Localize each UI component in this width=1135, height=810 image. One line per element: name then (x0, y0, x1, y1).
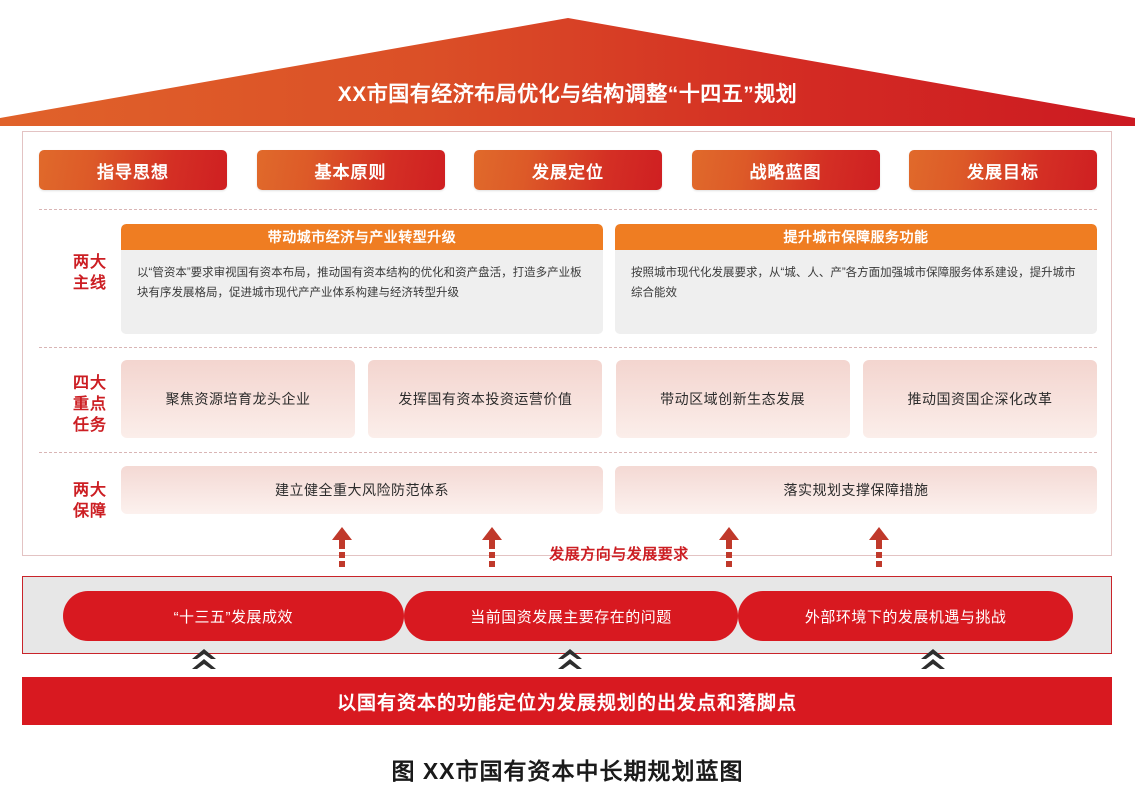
category-label-two-main-lines: 两大 主线 (49, 252, 131, 294)
main-line-card-body: 按照城市现代化发展要求，从“城、人、产”各方面加强城市保障服务体系建设，提升城市… (615, 250, 1097, 334)
chevron-double-up-icon (191, 648, 217, 674)
category-label-line: 两大 (49, 252, 131, 273)
top-button-guiding-thought[interactable]: 指导思想 (39, 150, 227, 190)
main-line-card-title: 带动城市经济与产业转型升级 (121, 224, 603, 250)
category-label-line: 保障 (49, 501, 131, 522)
category-label-line: 四大 (49, 373, 131, 394)
main-line-card-title: 提升城市保障服务功能 (615, 224, 1097, 250)
foundation-pill-13th-five-year-results[interactable]: “十三五”发展成效 (63, 591, 404, 641)
main-line-card-industry-upgrade[interactable]: 带动城市经济与产业转型升级 以“管资本”要求审视国有资本布局，推动国有资本结构的… (121, 224, 603, 334)
category-label-two-guarantees: 两大 保障 (49, 480, 131, 522)
figure-caption: 图 XX市国有资本中长期规划蓝图 (0, 752, 1135, 786)
foundation-band: “十三五”发展成效 当前国资发展主要存在的问题 外部环境下的发展机遇与挑战 (22, 576, 1112, 654)
task-card[interactable]: 带动区域创新生态发展 (616, 360, 850, 438)
guarantees-row: 建立健全重大风险防范体系 落实规划支撑保障措施 (121, 466, 1097, 514)
foundation-pill-row: “十三五”发展成效 当前国资发展主要存在的问题 外部环境下的发展机遇与挑战 (23, 577, 1113, 655)
task-card[interactable]: 推动国资国企深化改革 (863, 360, 1097, 438)
arrow-up-dashed-icon (868, 527, 890, 571)
divider-after-buttons (39, 209, 1097, 210)
task-card[interactable]: 发挥国有资本投资运营价值 (368, 360, 602, 438)
key-tasks-row: 聚焦资源培育龙头企业 发挥国有资本投资运营价值 带动区域创新生态发展 推动国资国… (121, 360, 1097, 438)
divider-after-tasks (39, 452, 1097, 453)
category-label-line: 任务 (49, 415, 131, 436)
main-framework-panel: 指导思想 基本原则 发展定位 战略蓝图 发展目标 两大 主线 四大 重点 任务 … (22, 131, 1112, 556)
category-label-four-key-tasks: 四大 重点 任务 (49, 373, 131, 436)
main-line-card-city-services[interactable]: 提升城市保障服务功能 按照城市现代化发展要求，从“城、人、产”各方面加强城市保障… (615, 224, 1097, 334)
top-button-basic-principles[interactable]: 基本原则 (257, 150, 445, 190)
top-button-strategic-blueprint[interactable]: 战略蓝图 (692, 150, 880, 190)
top-button-development-goals[interactable]: 发展目标 (909, 150, 1097, 190)
arrow-up-dashed-icon (481, 527, 503, 571)
category-label-line: 主线 (49, 273, 131, 294)
arrow-up-dashed-icon (718, 527, 740, 571)
category-label-line: 两大 (49, 480, 131, 501)
category-label-line: 重点 (49, 394, 131, 415)
foundation-pill-external-opportunities[interactable]: 外部环境下的发展机遇与挑战 (738, 591, 1073, 641)
arrow-up-dashed-icon (331, 527, 353, 571)
divider-after-mainlines (39, 347, 1097, 348)
guarantee-card[interactable]: 建立健全重大风险防范体系 (121, 466, 603, 514)
task-card[interactable]: 聚焦资源培育龙头企业 (121, 360, 355, 438)
main-lines-row: 带动城市经济与产业转型升级 以“管资本”要求审视国有资本布局，推动国有资本结构的… (121, 224, 1097, 334)
roof-banner (0, 18, 1135, 126)
chevron-double-up-icon (920, 648, 946, 674)
top-button-row: 指导思想 基本原则 发展定位 战略蓝图 发展目标 (39, 150, 1097, 190)
guarantee-card[interactable]: 落实规划支撑保障措施 (615, 466, 1097, 514)
foundation-pill-current-problems[interactable]: 当前国资发展主要存在的问题 (404, 591, 739, 641)
chevron-double-up-icon (557, 648, 583, 674)
top-button-development-position[interactable]: 发展定位 (474, 150, 662, 190)
main-line-card-body: 以“管资本”要求审视国有资本布局，推动国有资本结构的优化和资产盘活，打造多产业板… (121, 250, 603, 334)
bottom-statement-bar: 以国有资本的功能定位为发展规划的出发点和落脚点 (22, 677, 1112, 725)
development-direction-label: 发展方向与发展要求 (524, 543, 714, 564)
development-direction-band: 发展方向与发展要求 (0, 527, 1135, 575)
